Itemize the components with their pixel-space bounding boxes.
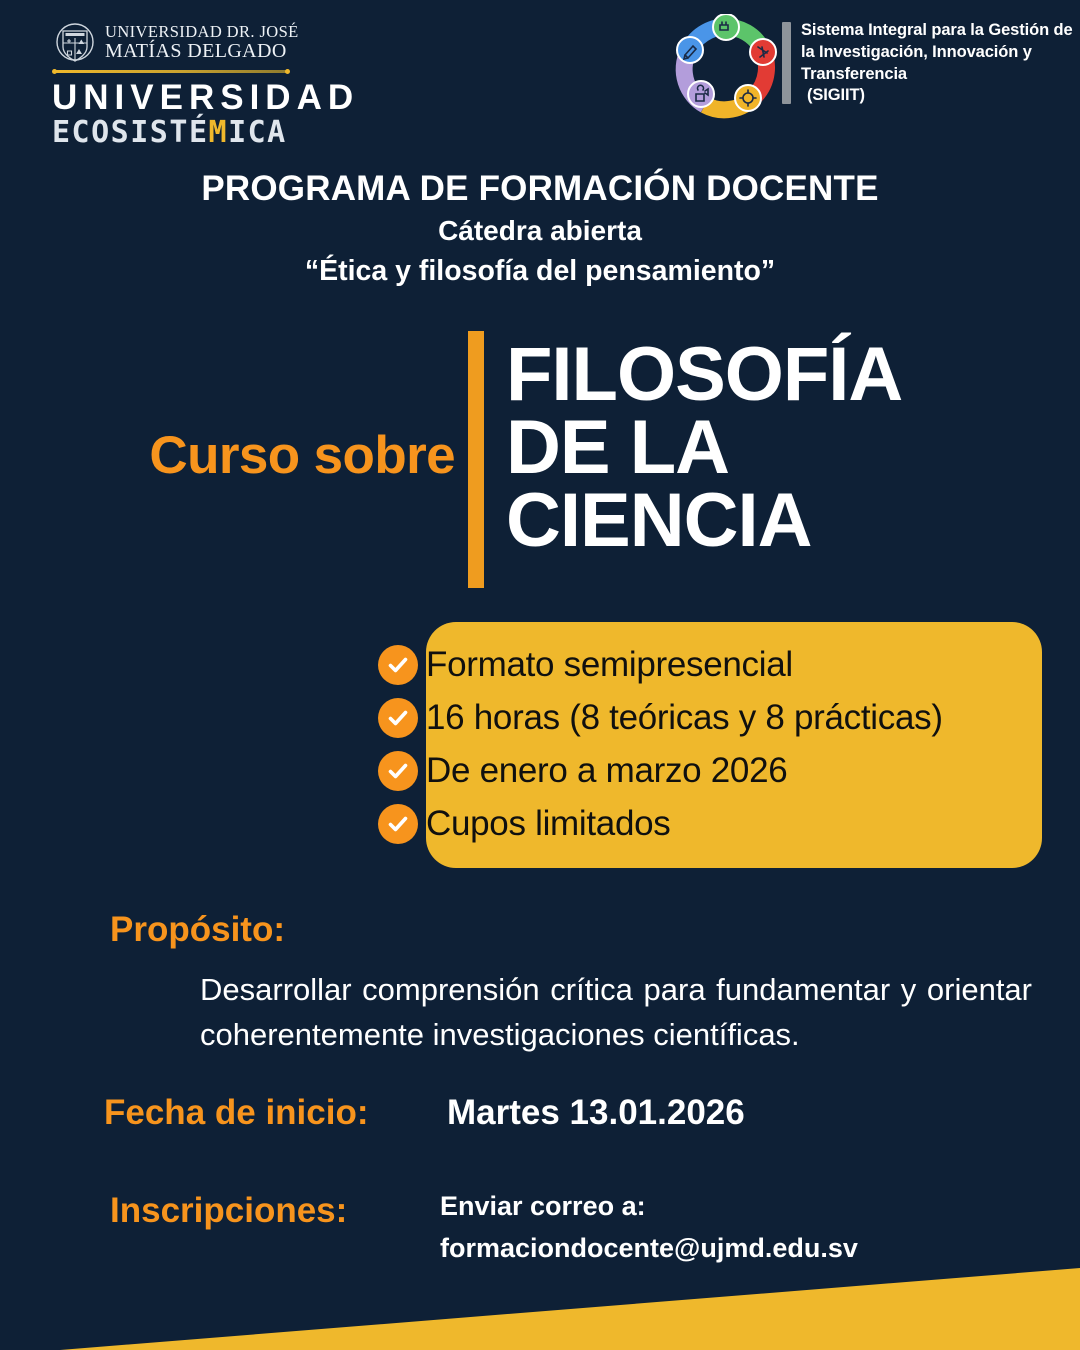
hero-title-line-1: FILOSOFÍA (506, 339, 1066, 412)
brand-divider-rule (53, 70, 289, 73)
hero-title-line-2: DE LA (506, 412, 1066, 485)
ujmd-logo-row: UNIVERSIDAD DR. JOSÉ MATÍAS DELGADO (56, 22, 356, 62)
sigiit-acronym: (SIGIIT) (801, 85, 1080, 107)
purpose-label: Propósito: (110, 910, 285, 950)
ecosystem-wordmark-line-1: UNIVERSIDAD (52, 80, 356, 115)
hero-title-line-3: CIENCIA (506, 485, 1066, 558)
check-circle-icon (378, 804, 418, 844)
start-date-label: Fecha de inicio: (104, 1093, 369, 1133)
program-heading-block: PROGRAMA DE FORMACIÓN DOCENTE Cátedra ab… (0, 168, 1080, 288)
hero-section: Curso sobre FILOSOFÍA DE LA CIENCIA (0, 325, 1080, 600)
hero-kicker: Curso sobre (75, 425, 455, 486)
ujmd-line-2: MATÍAS DELGADO (105, 41, 299, 62)
registration-instruction: Enviar correo a: (440, 1186, 1000, 1228)
hero-vertical-rule (468, 331, 484, 588)
feature-label: De enero a marzo 2026 (426, 753, 787, 788)
list-item: De enero a marzo 2026 (378, 744, 1078, 797)
feature-label: Cupos limitados (426, 806, 671, 841)
ecosystem-word-post: ICA (228, 115, 287, 150)
ecosystem-wordmark: UNIVERSIDAD ECOSISTÉMICA (52, 80, 356, 148)
university-brand-lockup: UNIVERSIDAD DR. JOSÉ MATÍAS DELGADO UNIV… (56, 22, 356, 148)
start-date-value: Martes 13.01.2026 (447, 1093, 745, 1133)
list-item: Cupos limitados (378, 797, 1078, 850)
ecosystem-word-accent: É (189, 115, 209, 150)
list-item: 16 horas (8 teóricas y 8 prácticas) (378, 691, 1078, 744)
sigiit-line-1: Sistema Integral para la Gestión (801, 21, 1049, 39)
sigiit-title-text: Sistema Integral para la Gestión de la I… (801, 20, 1080, 107)
sigiit-circular-ring-icon (672, 14, 780, 122)
check-circle-icon (378, 698, 418, 738)
feature-label: Formato semipresencial (426, 647, 793, 682)
registration-email[interactable]: formaciondocente@ujmd.edu.sv (440, 1228, 1000, 1270)
sigiit-brand-lockup: Sistema Integral para la Gestión de la I… (672, 14, 1080, 122)
ecosystem-wordmark-line-2: ECOSISTÉMICA (52, 118, 356, 148)
program-title: PROGRAMA DE FORMACIÓN DOCENTE (0, 168, 1080, 209)
registration-details: Enviar correo a: formaciondocente@ujmd.e… (440, 1186, 1000, 1270)
ecosystem-word-pre: ECOSIST (52, 115, 189, 150)
check-circle-icon (378, 645, 418, 685)
sigiit-divider-bar (782, 22, 791, 104)
poster-root: UNIVERSIDAD DR. JOSÉ MATÍAS DELGADO UNIV… (0, 0, 1080, 1350)
check-circle-icon (378, 751, 418, 791)
registration-label: Inscripciones: (110, 1191, 347, 1231)
ujmd-line-1: UNIVERSIDAD DR. JOSÉ (105, 23, 299, 40)
program-theme: “Ética y filosofía del pensamiento” (0, 254, 1080, 288)
program-subtitle: Cátedra abierta (0, 214, 1080, 248)
ecosystem-word-accent-m: M (209, 115, 229, 150)
hero-title: FILOSOFÍA DE LA CIENCIA (506, 339, 1066, 558)
feature-label: 16 horas (8 teóricas y 8 prácticas) (426, 700, 943, 735)
feature-list: Formato semipresencial 16 horas (8 teóri… (378, 638, 1078, 850)
sigiit-line-3: Transferencia (801, 65, 907, 83)
list-item: Formato semipresencial (378, 638, 1078, 691)
university-shield-icon (56, 22, 94, 62)
ujmd-wordmark: UNIVERSIDAD DR. JOSÉ MATÍAS DELGADO (105, 23, 299, 62)
purpose-text: Desarrollar comprensión crítica para fun… (200, 968, 1032, 1058)
